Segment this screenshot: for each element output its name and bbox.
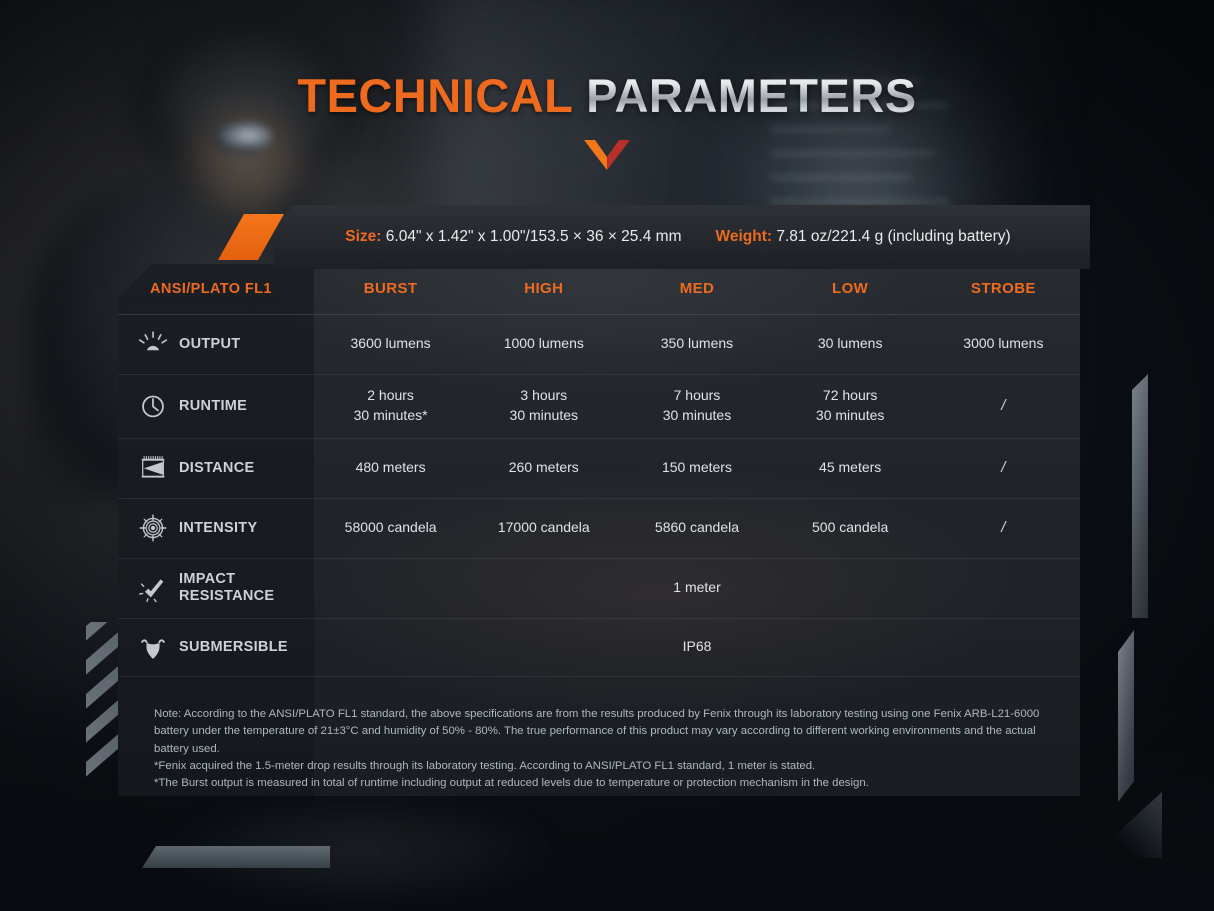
page-title-block: TECHNICAL PARAMETERS bbox=[0, 72, 1214, 170]
table-row: SUBMERSIBLEIP68 bbox=[118, 618, 1080, 676]
cell-strobe-runtime: / bbox=[927, 374, 1080, 438]
cell-med-output: 350 lumens bbox=[620, 314, 773, 374]
not-applicable-mark: / bbox=[1001, 397, 1005, 414]
cell-burst-output: 3600 lumens bbox=[314, 314, 467, 374]
impact-drop-icon bbox=[138, 573, 168, 603]
cell-med-distance: 150 meters bbox=[620, 438, 773, 498]
page-title-rest: PARAMETERS bbox=[573, 69, 917, 122]
weight-spec: Weight: 7.81 oz/221.4 g (including batte… bbox=[715, 229, 1010, 245]
table-row: INTENSITY58000 candela17000 candela5860 … bbox=[118, 498, 1080, 558]
size-spec: Size: 6.04" x 1.42" x 1.00"/153.5 × 36 ×… bbox=[345, 229, 681, 245]
row-label-text: RUNTIME bbox=[179, 398, 247, 415]
row-label-text: INTENSITY bbox=[179, 520, 257, 537]
cell-med-runtime: 7 hours30 minutes bbox=[620, 374, 773, 438]
cell-high-runtime: 3 hours30 minutes bbox=[467, 374, 620, 438]
table-row: OUTPUT3600 lumens1000 lumens350 lumens30… bbox=[118, 314, 1080, 374]
footnote-block: Note: According to the ANSI/PLATO FL1 st… bbox=[154, 706, 1072, 793]
cell-high-distance: 260 meters bbox=[467, 438, 620, 498]
table-row: IMPACTRESISTANCE1 meter bbox=[118, 558, 1080, 618]
column-header-med: MED bbox=[620, 264, 773, 314]
row-label-runtime: RUNTIME bbox=[118, 374, 314, 438]
page-title: TECHNICAL PARAMETERS bbox=[297, 72, 916, 119]
table-body: OUTPUT3600 lumens1000 lumens350 lumens30… bbox=[118, 314, 1080, 676]
footnote-line-1: Note: According to the ANSI/PLATO FL1 st… bbox=[154, 706, 1072, 758]
row-label-output: OUTPUT bbox=[118, 314, 314, 374]
table-header-row: ANSI/PLATO FL1 BURST HIGH MED LOW STROBE bbox=[118, 264, 1080, 314]
specifications-table: ANSI/PLATO FL1 BURST HIGH MED LOW STROBE… bbox=[118, 264, 1080, 677]
table-row: RUNTIME2 hours30 minutes*3 hours30 minut… bbox=[118, 374, 1080, 438]
cell-strobe-output: 3000 lumens bbox=[927, 314, 1080, 374]
cell-burst-intensity: 58000 candela bbox=[314, 498, 467, 558]
column-header-burst: BURST bbox=[314, 264, 467, 314]
row-label-text: OUTPUT bbox=[179, 336, 240, 353]
cell-low-intensity: 500 candela bbox=[774, 498, 927, 558]
cell-value-span: IP68 bbox=[314, 618, 1080, 676]
clock-icon bbox=[138, 391, 168, 421]
row-label-text: SUBMERSIBLE bbox=[179, 639, 288, 656]
row-label-submersible: SUBMERSIBLE bbox=[118, 618, 314, 676]
frame-bar-upper bbox=[1132, 374, 1148, 618]
cell-med-intensity: 5860 candela bbox=[620, 498, 773, 558]
row-label-impact: IMPACTRESISTANCE bbox=[118, 558, 314, 618]
not-applicable-mark: / bbox=[1001, 459, 1005, 476]
page-title-accent: TECHNICAL bbox=[297, 69, 572, 122]
cell-low-output: 30 lumens bbox=[774, 314, 927, 374]
column-header-strobe: STROBE bbox=[927, 264, 1080, 314]
column-header-high: HIGH bbox=[467, 264, 620, 314]
row-label-text: DISTANCE bbox=[179, 460, 254, 477]
column-header-low: LOW bbox=[774, 264, 927, 314]
cell-value-span: 1 meter bbox=[314, 558, 1080, 618]
cell-low-runtime: 72 hours30 minutes bbox=[774, 374, 927, 438]
row-label-intensity: INTENSITY bbox=[118, 498, 314, 558]
table-row: DISTANCE480 meters260 meters150 meters45… bbox=[118, 438, 1080, 498]
weight-value: 7.81 oz/221.4 g (including battery) bbox=[776, 228, 1010, 245]
cell-strobe-distance: / bbox=[927, 438, 1080, 498]
cell-strobe-intensity: / bbox=[927, 498, 1080, 558]
beam-distance-icon bbox=[138, 453, 168, 483]
column-header-standard: ANSI/PLATO FL1 bbox=[118, 264, 314, 314]
frame-bottom-tab bbox=[142, 846, 330, 868]
frame-bar-lower bbox=[1118, 630, 1134, 802]
footnote-line-2: *Fenix acquired the 1.5-meter drop resul… bbox=[154, 758, 1072, 775]
size-value: 6.04" x 1.42" x 1.00"/153.5 × 36 × 25.4 … bbox=[386, 228, 682, 245]
footnote-line-3: *The Burst output is measured in total o… bbox=[154, 775, 1072, 792]
cell-burst-distance: 480 meters bbox=[314, 438, 467, 498]
row-label-distance: DISTANCE bbox=[118, 438, 314, 498]
cell-high-intensity: 17000 candela bbox=[467, 498, 620, 558]
not-applicable-mark: / bbox=[1001, 519, 1005, 536]
water-drop-icon bbox=[138, 632, 168, 662]
cell-burst-runtime: 2 hours30 minutes* bbox=[314, 374, 467, 438]
target-intensity-icon bbox=[138, 513, 168, 543]
spec-bar: Size: 6.04" x 1.42" x 1.00"/153.5 × 36 ×… bbox=[274, 205, 1090, 269]
row-label-text: IMPACTRESISTANCE bbox=[179, 571, 274, 605]
cell-high-output: 1000 lumens bbox=[467, 314, 620, 374]
frame-right-bars bbox=[1128, 374, 1158, 814]
chevron-down-icon bbox=[0, 140, 1214, 170]
sunburst-icon bbox=[138, 329, 168, 359]
size-label: Size: bbox=[345, 228, 381, 245]
cell-low-distance: 45 meters bbox=[774, 438, 927, 498]
weight-label: Weight: bbox=[715, 228, 772, 245]
